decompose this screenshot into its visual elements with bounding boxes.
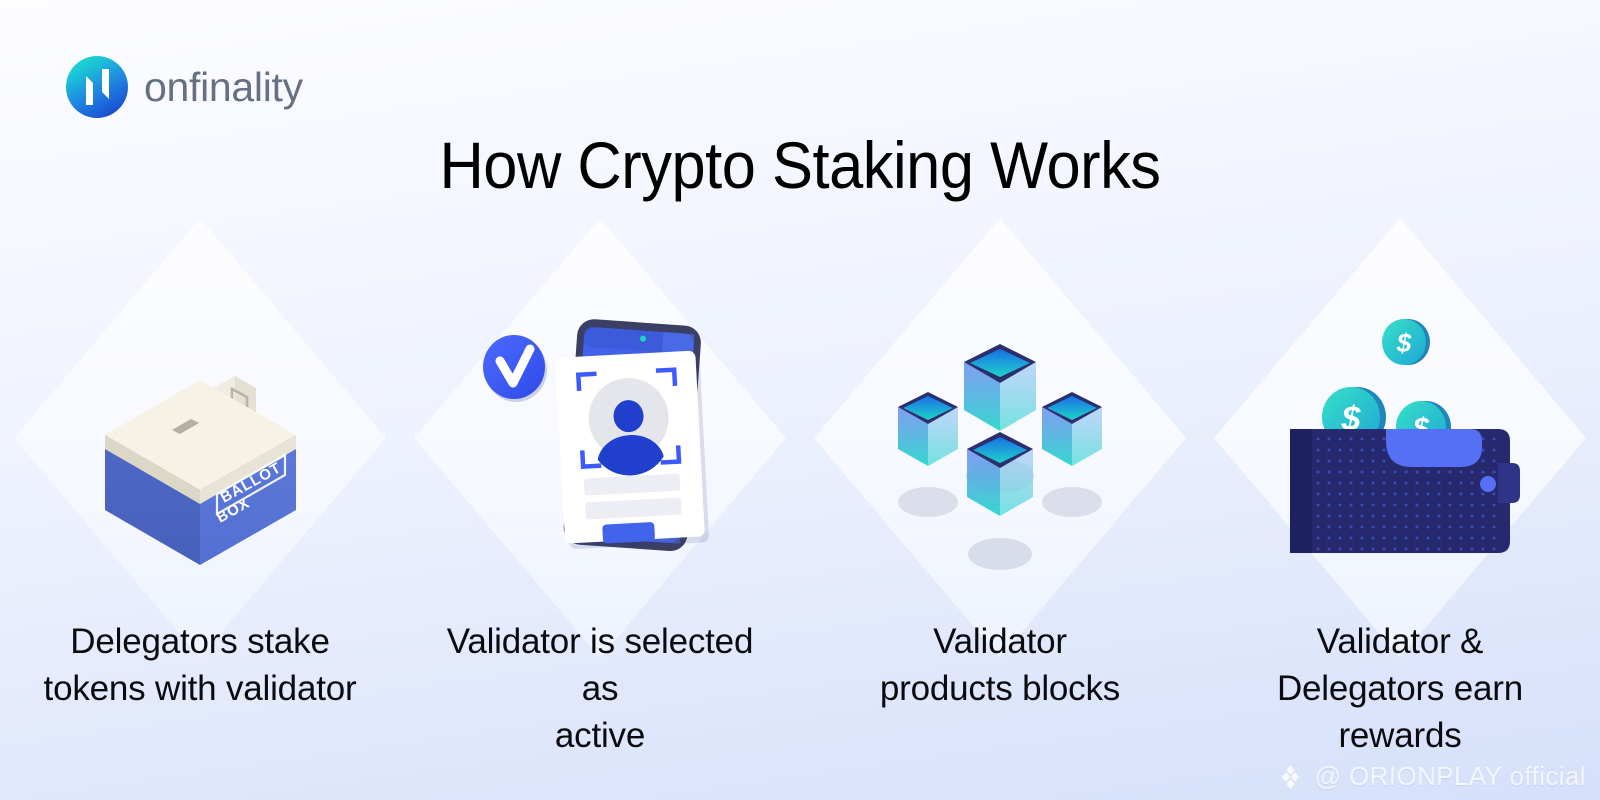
step-item-3: Validator products blocks bbox=[800, 218, 1200, 800]
diamond-cluster-icon bbox=[1276, 764, 1306, 790]
caption-line: Validator is selected as bbox=[434, 618, 766, 712]
step-caption-3: Validator products blocks bbox=[808, 618, 1192, 712]
blockchain-cubes-icon bbox=[860, 304, 1140, 574]
infographic-canvas: onfinality How Crypto Staking Works bbox=[0, 0, 1600, 800]
caption-line: active bbox=[434, 712, 766, 759]
steps-row: BALLOT BOX Delegators stake tokens with … bbox=[0, 218, 1600, 800]
watermark: @ ORIONPLAY official bbox=[1276, 761, 1586, 792]
caption-line: products blocks bbox=[808, 665, 1192, 712]
step-item-2: Validator is selected as active bbox=[400, 218, 800, 800]
caption-line: Validator bbox=[808, 618, 1192, 665]
caption-line: tokens with validator bbox=[8, 665, 392, 712]
caption-line: Delegators stake bbox=[8, 618, 392, 665]
wallet-body bbox=[1290, 429, 1520, 553]
step-caption-2: Validator is selected as active bbox=[434, 618, 766, 759]
step-caption-4: Validator & Delegators earn rewards bbox=[1208, 618, 1592, 759]
caption-line: Delegators earn bbox=[1208, 665, 1592, 712]
coin-top: $ bbox=[1382, 319, 1430, 365]
phone-identity-verification-icon bbox=[460, 304, 740, 574]
page-title: How Crypto Staking Works bbox=[56, 127, 1544, 203]
step-item-1: BALLOT BOX Delegators stake tokens with … bbox=[0, 218, 400, 800]
brand-name: onfinality bbox=[144, 64, 303, 111]
ballot-box-icon: BALLOT BOX bbox=[60, 304, 340, 574]
wallet-with-coins-icon: $ $ $ bbox=[1260, 304, 1540, 574]
brand-logo: onfinality bbox=[66, 56, 303, 118]
coin-symbol: $ bbox=[1396, 328, 1412, 358]
watermark-text: @ ORIONPLAY official bbox=[1315, 761, 1586, 792]
onfinality-n-logo-icon bbox=[66, 56, 128, 118]
verified-check-icon bbox=[483, 335, 547, 402]
caption-line: rewards bbox=[1208, 712, 1592, 759]
step-item-4: $ $ $ bbox=[1200, 218, 1600, 800]
caption-line: Validator & bbox=[1208, 618, 1592, 665]
step-caption-1: Delegators stake tokens with validator bbox=[8, 618, 392, 712]
